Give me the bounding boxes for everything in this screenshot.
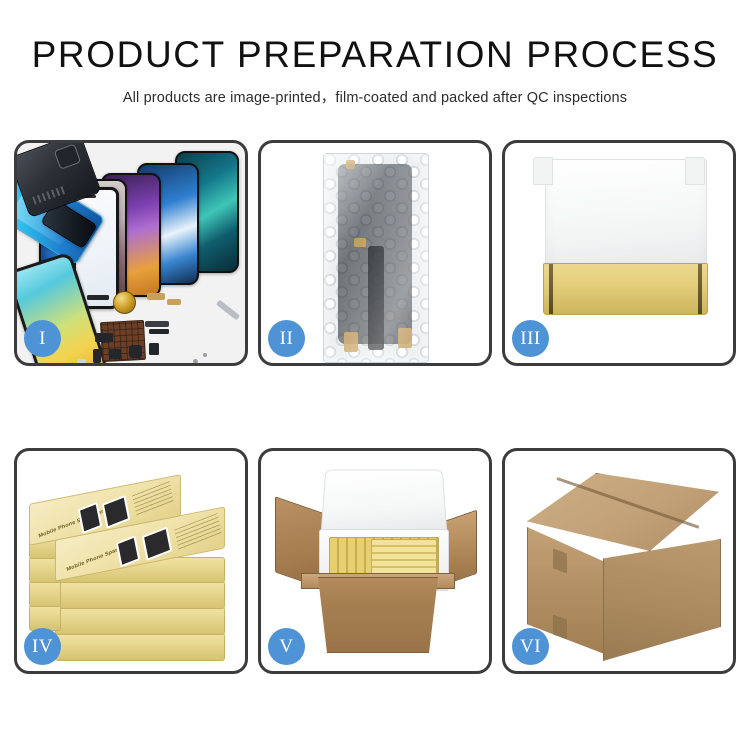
carton-right-face-icon — [603, 539, 721, 661]
box-label-lines — [174, 513, 221, 551]
carton-tape-icon — [553, 614, 567, 639]
box-flap-left-icon — [533, 157, 553, 185]
connector-icon — [354, 238, 366, 247]
box-flap-right-icon — [685, 157, 705, 185]
component-chip-icon — [93, 349, 101, 363]
box-lid-icon — [545, 159, 707, 275]
box-label-lines — [132, 481, 173, 516]
component-chip-icon — [95, 333, 113, 342]
flex-cable-icon — [167, 299, 181, 305]
panel-badge: IV — [24, 628, 61, 665]
panel-foam-carton[interactable]: V — [258, 448, 492, 674]
panel-boxed-stack[interactable]: Mobile Phone Spare Parts Mobile Phone Sp… — [14, 448, 248, 674]
panel-sealed-carton[interactable]: VI — [502, 448, 736, 674]
panel-bubble-wrapped[interactable]: II — [258, 140, 492, 366]
kraft-box-body-icon — [543, 263, 708, 315]
stacked-box-slab — [29, 581, 61, 607]
process-panel-grid: I II III — [14, 140, 736, 674]
connector-icon — [346, 160, 355, 169]
screw-icon — [203, 353, 207, 357]
stacked-box-slab — [55, 607, 225, 635]
tweezers-icon — [216, 300, 240, 321]
panel-badge: VI — [512, 628, 549, 665]
box-stack-icon: Mobile Phone Spare Parts Mobile Phone Sp… — [29, 475, 237, 667]
component-chip-icon — [109, 349, 121, 359]
coil-component-icon — [113, 291, 136, 314]
flex-cable-icon — [147, 293, 165, 300]
foam-lid-icon — [321, 470, 448, 535]
box-label-image — [116, 535, 141, 567]
component-chip-icon — [149, 329, 169, 334]
box-label-image — [102, 495, 131, 529]
carton-top-face-icon — [527, 473, 719, 551]
carton-front-icon — [303, 577, 453, 653]
stacked-box-slab — [55, 633, 225, 661]
panel-inner-box[interactable]: III — [502, 140, 736, 366]
flex-cable-icon — [368, 246, 384, 350]
flex-cable-icon — [145, 321, 169, 327]
component-chip-icon — [77, 359, 86, 363]
page-title: PRODUCT PREPARATION PROCESS — [0, 36, 750, 75]
component-chip-icon — [149, 343, 159, 355]
box-label-image — [142, 526, 172, 560]
connector-icon — [344, 332, 358, 352]
page-header: PRODUCT PREPARATION PROCESS All products… — [0, 0, 750, 107]
panel-badge: V — [268, 628, 305, 665]
stacked-box-slab — [29, 605, 61, 631]
component-chip-icon — [87, 295, 109, 300]
connector-icon — [398, 328, 412, 348]
bubble-wrap-bag-icon — [323, 153, 429, 363]
screw-icon — [193, 359, 198, 363]
panel-badge: II — [268, 320, 305, 357]
panel-badge: I — [24, 320, 61, 357]
panel-parts-overview[interactable]: I — [14, 140, 248, 366]
page-subtitle: All products are image-printed，film-coat… — [0, 86, 750, 107]
panel-badge: III — [512, 320, 549, 357]
box-label-image — [78, 502, 103, 534]
component-chip-icon — [129, 345, 142, 358]
stacked-box-slab — [55, 581, 225, 609]
